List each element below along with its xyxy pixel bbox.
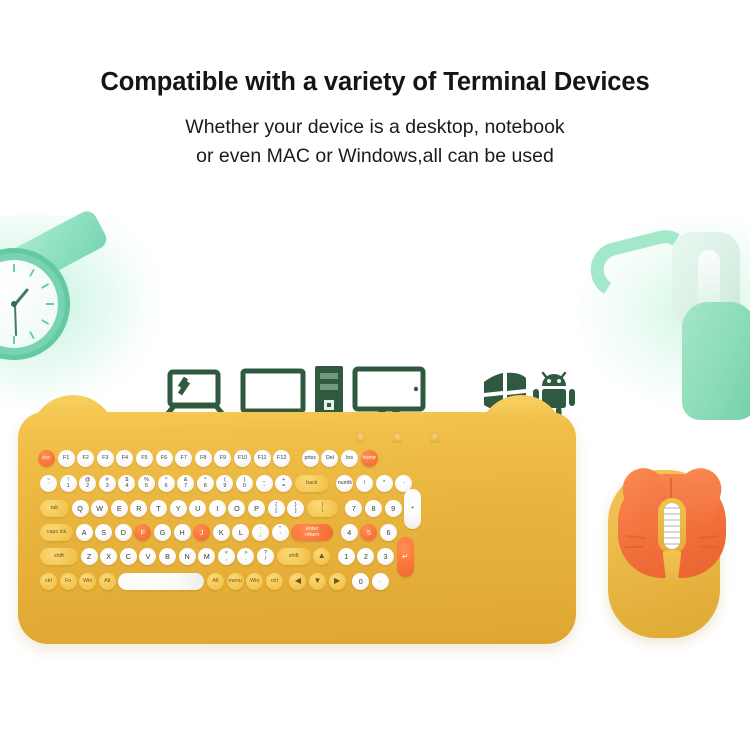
keyboard-key[interactable]: menu	[227, 573, 244, 590]
wireless-keyboard: escF1F2F3F4F5F6F7F8F9F10F11F12prtscDelIn…	[18, 412, 576, 644]
keyboard-key[interactable]: Y	[170, 500, 187, 517]
keyboard-key[interactable]: ? /	[257, 548, 274, 565]
keyboard-key[interactable]: home	[361, 450, 378, 467]
wireless-cat-mouse	[600, 448, 728, 640]
keyboard-key[interactable]: T	[150, 500, 167, 517]
watch-band-bottom	[0, 297, 32, 380]
keyboard-key[interactable]: G	[154, 524, 171, 541]
keyboard-key[interactable]: ^ 6	[158, 475, 175, 492]
keyboard-key[interactable]: ) 0	[236, 475, 253, 492]
keyboard-key[interactable]: shift	[40, 548, 78, 565]
keyboard-key[interactable]	[118, 573, 204, 590]
keyboard-key[interactable]: 8	[365, 500, 382, 517]
page-title: Compatible with a variety of Terminal De…	[0, 68, 750, 97]
keyboard-key[interactable]: ↵	[397, 537, 414, 577]
keyboard-key[interactable]: shift	[277, 548, 311, 565]
compatibility-icon-strip: Laptop Computer TV Mac/Windws/Androld	[0, 182, 750, 274]
keyboard-key[interactable]: B	[159, 548, 176, 565]
watch-hour-hand	[13, 288, 29, 306]
keyboard-key[interactable]: Alt	[207, 573, 224, 590]
keyboard-key[interactable]: Ins	[341, 450, 358, 467]
keyboard-key[interactable]: Alt	[99, 573, 116, 590]
keyboard-key[interactable]: Q	[72, 500, 89, 517]
keyboard-key[interactable]: 9	[385, 500, 402, 517]
keyboard-key[interactable]: 6	[380, 524, 397, 541]
keyboard-key[interactable]: enter return	[291, 524, 333, 541]
indicator-led-1	[356, 432, 365, 443]
watch-center-pin	[11, 301, 17, 307]
keyboard-key[interactable]: +	[404, 489, 421, 529]
keyboard-key[interactable]: " '	[272, 524, 289, 541]
keyboard-key[interactable]: | \	[307, 500, 338, 517]
scroll-wheel[interactable]	[664, 503, 680, 549]
keyboard-key[interactable]: _ -	[256, 475, 273, 492]
keyboard-key[interactable]: *	[376, 475, 393, 492]
keyboard-key[interactable]: esc	[38, 450, 55, 467]
subtitle-line-1: Whether your device is a desktop, notebo…	[0, 113, 750, 142]
keyboard-key[interactable]: .	[372, 573, 389, 590]
keyboard-key[interactable]: back	[295, 475, 329, 492]
watch-minute-hand	[14, 305, 17, 336]
keyboard-key[interactable]: F6	[156, 450, 173, 467]
keyboard-key[interactable]: Fn	[60, 573, 77, 590]
keyboard-key[interactable]: F10	[234, 450, 251, 467]
mouse-whisker	[626, 535, 646, 539]
keyboard-key[interactable]: F8	[195, 450, 212, 467]
keyboard-key[interactable]: N	[179, 548, 196, 565]
keyboard-body: escF1F2F3F4F5F6F7F8F9F10F11F12prtscDelIn…	[18, 412, 576, 644]
keyboard-key[interactable]: I	[209, 500, 226, 517]
keyboard-key[interactable]: P	[248, 500, 265, 517]
mouse-whisker	[624, 546, 644, 549]
keyboard-key[interactable]: ▼	[309, 573, 326, 590]
keyboard-key[interactable]: tab	[40, 500, 69, 517]
subtitle: Whether your device is a desktop, notebo…	[0, 113, 750, 171]
keyboard-key[interactable]: /	[356, 475, 373, 492]
mouse-whisker	[698, 535, 718, 539]
keyboard-key[interactable]: F3	[97, 450, 114, 467]
subtitle-line-2: or even MAC or Windows,all can be used	[0, 142, 750, 171]
mouse-body	[608, 470, 720, 638]
keyboard-key[interactable]: D	[115, 524, 132, 541]
mouse-whisker	[700, 546, 720, 549]
keyboard-key[interactable]: F1	[58, 450, 75, 467]
keyboard-key[interactable]: caps lck	[40, 524, 73, 541]
keyboard-key[interactable]: : ;	[252, 524, 269, 541]
keyboard-key[interactable]: prtsc	[302, 450, 319, 467]
keyboard-key[interactable]: H	[174, 524, 191, 541]
keyboard-key[interactable]: < ,	[218, 548, 235, 565]
keyboard-key[interactable]: Z	[81, 548, 98, 565]
keyboard-key[interactable]: { [	[268, 500, 285, 517]
keyboard-key[interactable]: C	[120, 548, 137, 565]
indicator-led-3	[430, 432, 439, 443]
keyboard-key[interactable]: ctrl	[266, 573, 283, 590]
bottle-body	[682, 302, 750, 420]
product-marketing-image: Compatible with a variety of Terminal De…	[0, 0, 750, 750]
keyboard-key[interactable]: 1	[338, 548, 355, 565]
keyboard-key[interactable]: 3	[377, 548, 394, 565]
keyboard-key[interactable]: ctrl	[40, 573, 57, 590]
keyboard-key[interactable]: A	[76, 524, 93, 541]
keyboard-key[interactable]: ~ `	[40, 475, 57, 492]
keyboard-key[interactable]: E	[111, 500, 128, 517]
keyboard-key[interactable]: K	[213, 524, 230, 541]
keyboard-key[interactable]: % 5	[138, 475, 155, 492]
keyboard-key[interactable]: 4	[341, 524, 358, 541]
keyboard-key[interactable]: F11	[254, 450, 271, 467]
keyboard-key[interactable]: # 3	[99, 475, 116, 492]
keyboard-key[interactable]: F5	[136, 450, 153, 467]
keyboard-key[interactable]: ▶	[329, 573, 346, 590]
keyboard-key[interactable]: * 8	[197, 475, 214, 492]
keyboard-key[interactable]: ! 1	[60, 475, 77, 492]
indicator-led-2	[393, 432, 402, 443]
